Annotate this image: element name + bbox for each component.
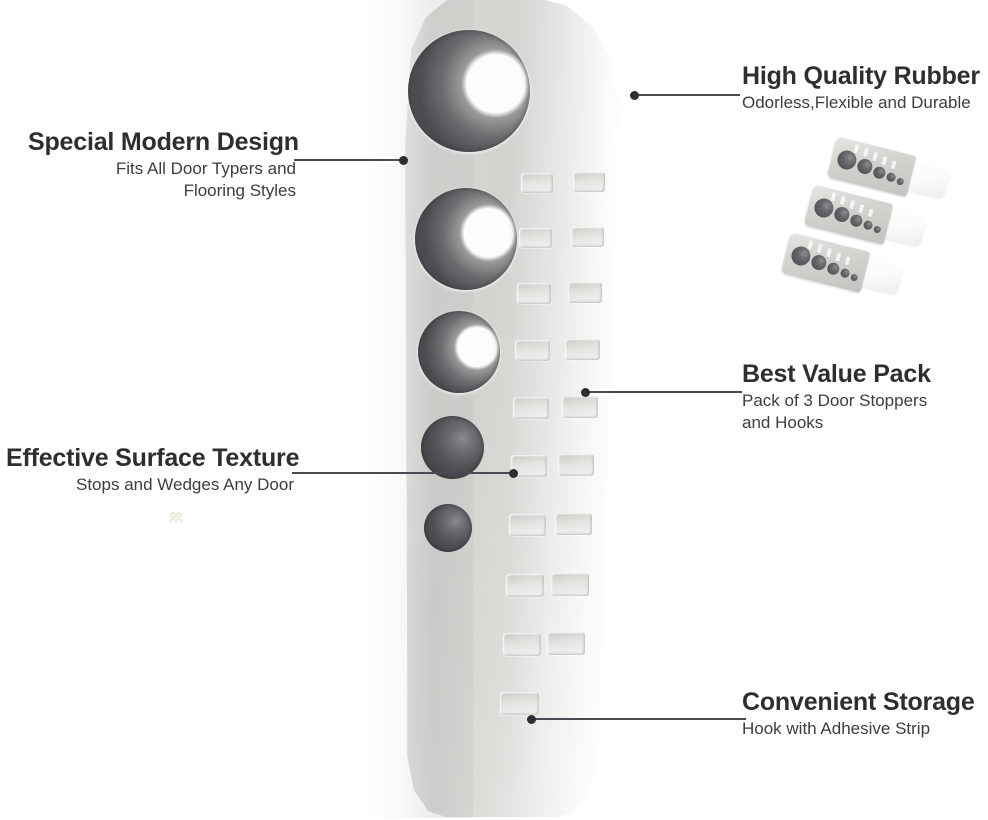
callout-subtitle: Fits All Door Typers and Flooring Styles [28,158,296,202]
texture-block [547,632,585,655]
callout-subtitle: Pack of 3 Door Stoppers and Hooks [742,390,972,434]
callout-subtitle: Stops and Wedges Any Door [6,474,294,496]
leader-dot-best-value-pack [581,388,590,397]
stopper-hole-2 [415,188,517,290]
texture-block [500,692,539,715]
texture-block [571,227,604,247]
callout-subtitle: Odorless,Flexible and Durable [742,92,988,114]
texture-block [521,173,553,193]
callout-title: Best Value Pack [742,360,972,388]
callout-high-quality-rubber: High Quality Rubber Odorless,Flexible an… [742,62,988,114]
texture-block [573,172,605,192]
three-pack-product-photo [784,148,984,308]
texture-block [558,454,594,476]
leader-line-effective-surface-texture [292,472,516,474]
leader-dot-high-quality-rubber [630,91,639,100]
watermark-speck [170,512,182,522]
leader-line-high-quality-rubber [636,94,740,96]
texture-block [551,573,589,596]
leader-line-convenient-storage [534,718,746,720]
door-stopper-illustration [368,0,630,818]
texture-block [555,513,592,535]
callout-effective-surface-texture: Effective Surface Texture Stops and Wedg… [6,444,294,496]
texture-block [503,633,541,656]
texture-block [513,397,549,419]
callout-title: Effective Surface Texture [6,444,294,472]
infographic-canvas: Special Modern Design Fits All Door Type… [0,0,988,820]
stopper-hole-3 [418,311,500,393]
callout-subtitle: Hook with Adhesive Strip [742,718,982,740]
callout-convenient-storage: Convenient Storage Hook with Adhesive St… [742,688,982,740]
callout-title: High Quality Rubber [742,62,988,90]
callout-special-modern-design: Special Modern Design Fits All Door Type… [28,128,296,202]
texture-block [517,283,551,304]
leader-dot-special-modern-design [399,156,408,165]
texture-block [509,514,546,536]
callout-title: Special Modern Design [28,128,296,156]
texture-block [506,574,544,597]
callout-title: Convenient Storage [742,688,982,716]
texture-block [515,340,550,361]
callout-best-value-pack: Best Value Pack Pack of 3 Door Stoppers … [742,360,972,434]
texture-block [519,228,552,248]
stopper-hole-1 [408,30,530,152]
texture-block [562,396,598,418]
texture-block [565,339,600,360]
leader-dot-convenient-storage [527,715,536,724]
leader-line-special-modern-design [294,159,406,161]
stopper-hole-4 [421,416,484,479]
leader-dot-effective-surface-texture [509,469,518,478]
leader-line-best-value-pack [588,391,742,393]
stopper-hole-5 [424,504,472,552]
texture-block [568,282,602,303]
